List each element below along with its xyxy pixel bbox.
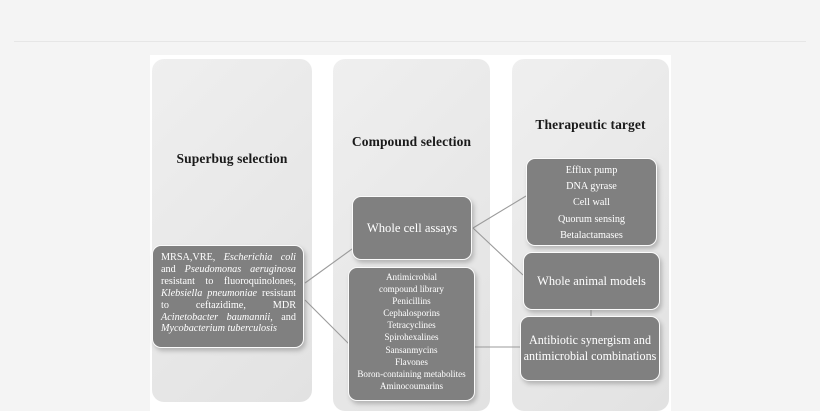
text-segment-0: MRSA,VRE, <box>161 252 224 263</box>
antibiotic-synergism-label: Antibiotic synergism and antimicrobial c… <box>521 333 659 364</box>
list-item: Tetracyclines <box>351 319 472 331</box>
superbug-list-text: MRSA,VRE, Escherichia coli and Pseudomon… <box>161 252 296 335</box>
antibiotic-synergism-box: Antibiotic synergism and antimicrobial c… <box>520 316 660 381</box>
text-segment-1: Escherichia coli <box>224 252 296 263</box>
text-segment-3: Pseudomonas aeruginosa <box>185 264 296 275</box>
list-item: compound library <box>351 283 472 295</box>
list-item: DNA gyrase <box>527 179 656 195</box>
column-superbug-selection: Superbug selection <box>152 59 312 402</box>
column-title-superbug: Superbug selection <box>152 151 312 167</box>
text-segment-8: , and <box>270 312 296 323</box>
text-segment-5: Klebsiella pneumoniae <box>161 288 257 299</box>
list-item: Flavones <box>351 356 472 368</box>
figure-page: Superbug selection Compound selection Th… <box>0 0 820 411</box>
whole-cell-assays-label: Whole cell assays <box>367 221 457 236</box>
superbug-list-box: MRSA,VRE, Escherichia coli and Pseudomon… <box>152 245 304 348</box>
therapeutic-targets-box: Efflux pumpDNA gyraseCell wallQuorum sen… <box>526 158 657 246</box>
list-item: Efflux pump <box>527 163 656 179</box>
list-item: Betalactamases <box>527 228 656 244</box>
list-item: Cell wall <box>527 195 656 211</box>
list-item: Sansanmycins <box>351 344 472 356</box>
column-title-compound: Compound selection <box>333 134 490 150</box>
column-title-therapeutic-target: Therapeutic target <box>512 117 669 133</box>
whole-animal-models-label: Whole animal models <box>537 274 646 289</box>
list-item: Boron-containing metabolites <box>351 368 472 380</box>
text-segment-7: Acinetobacter baumannii <box>161 312 270 323</box>
list-item: Aminocoumarins <box>351 380 472 392</box>
text-segment-9: Mycobacterium tuberculosis <box>161 323 277 334</box>
list-item: Penicillins <box>351 295 472 307</box>
text-segment-4: resistant to fluoroquinolones, <box>161 276 296 287</box>
list-item: Quorum sensing <box>527 212 656 228</box>
list-item: Spirohexalines <box>351 331 472 343</box>
whole-animal-models-box: Whole animal models <box>523 252 660 310</box>
compound-library-box: Antimicrobialcompound libraryPenicillins… <box>348 267 475 401</box>
text-segment-2: and <box>161 264 185 275</box>
list-item: Cephalosporins <box>351 307 472 319</box>
whole-cell-assays-box: Whole cell assays <box>352 196 472 260</box>
list-item: Antimicrobial <box>351 271 472 283</box>
page-top-divider <box>14 41 806 42</box>
